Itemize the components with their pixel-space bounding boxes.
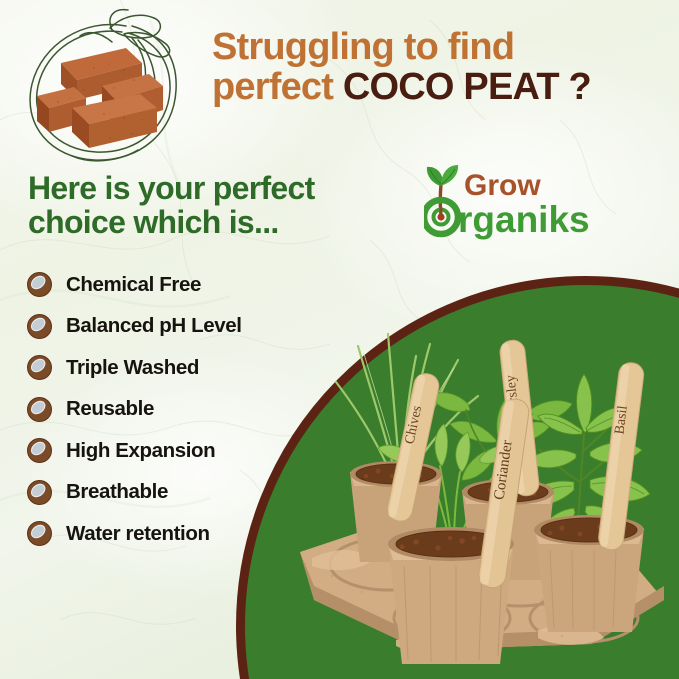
feature-list: Chemical Free Balanced pH Level [26,264,326,555]
coconut-half-icon [26,520,53,547]
pot-basil [534,515,644,632]
subheadline-line-1: Here is your perfect [28,170,315,206]
coco-peat-brick-badge [14,8,192,166]
coconut-half-icon [26,396,53,423]
list-item: Triple Washed [26,347,326,389]
feature-label: Breathable [66,480,168,504]
page-headline: Struggling to find perfect COCO PEAT ? [212,28,672,107]
coconut-half-icon [26,313,53,340]
product-photo-seedling-tray: Chives Parsley Coriander [292,300,679,679]
list-item: Breathable [26,472,326,514]
feature-label: Water retention [66,522,210,546]
page-subheadline: Here is your perfect choice which is... [28,172,380,240]
list-item: Water retention [26,513,326,555]
logo-word-organiks: rganiks [458,199,590,240]
subheadline-line-2: choice which is... [28,204,279,240]
coconut-half-icon [26,271,53,298]
feature-label: Balanced pH Level [66,314,242,338]
coconut-half-icon [26,354,53,381]
feature-label: Reusable [66,397,154,421]
list-item: Reusable [26,389,326,431]
feature-label: High Expansion [66,439,215,463]
coconut-half-icon [26,437,53,464]
headline-line-1: Struggling to find [212,28,672,68]
list-item: Balanced pH Level [26,306,326,348]
logo-word-grow: Grow [464,169,541,202]
list-item: Chemical Free [26,264,326,306]
advertisement-canvas: Struggling to find perfect COCO PEAT ? H… [0,0,679,679]
brand-logo: Grow rganiks [424,162,609,240]
headline-emphasis: COCO PEAT ? [343,66,591,108]
coconut-half-icon [26,479,53,506]
list-item: High Expansion [26,430,326,472]
headline-line-2: perfect COCO PEAT ? [212,68,672,108]
feature-label: Chemical Free [66,273,201,297]
feature-label: Triple Washed [66,356,199,380]
headline-prefix: perfect [212,66,343,108]
